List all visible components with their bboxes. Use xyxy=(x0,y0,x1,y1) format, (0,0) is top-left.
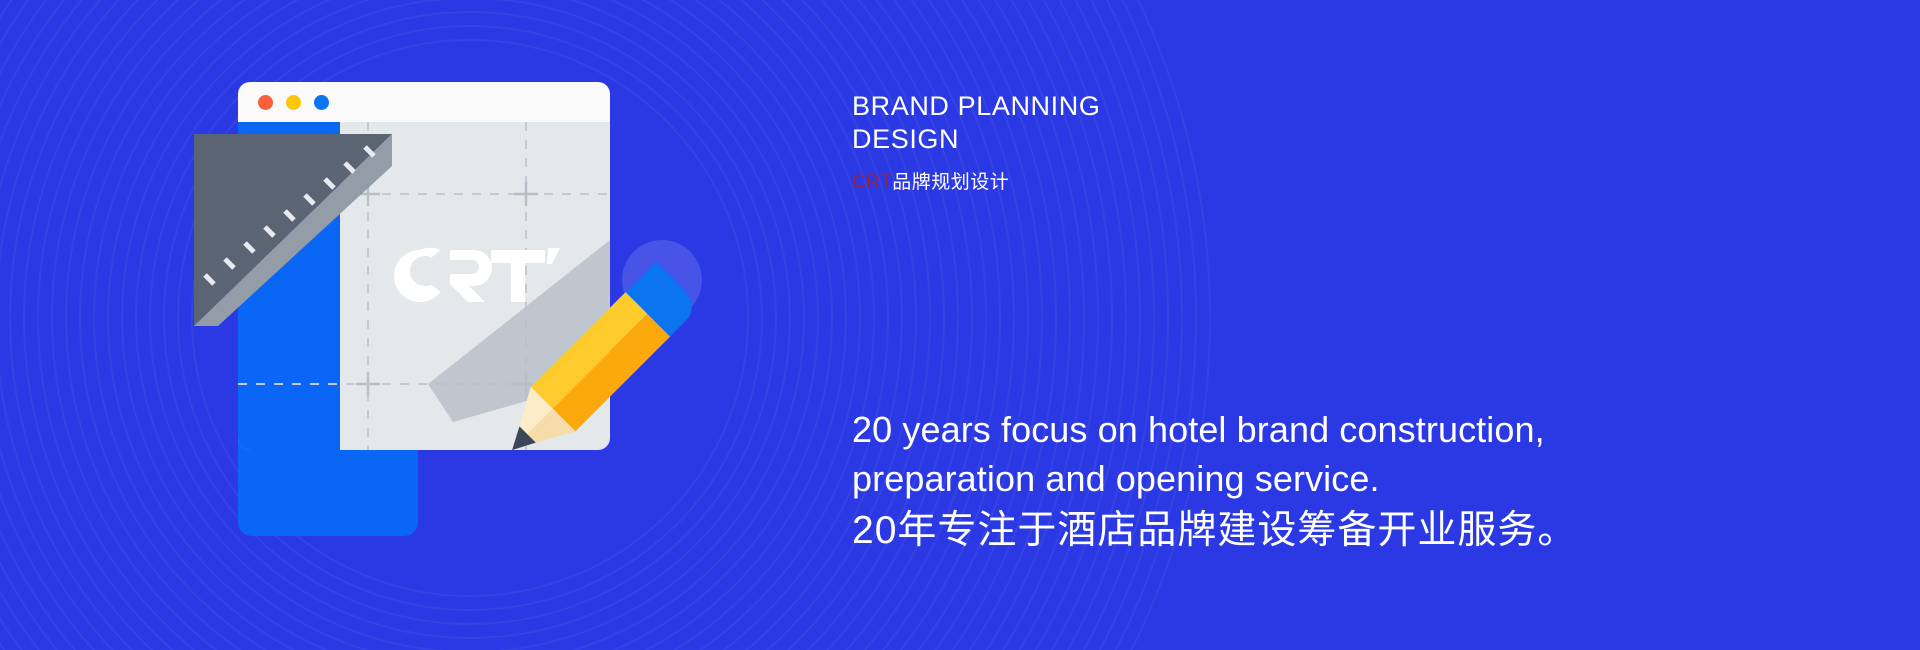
eyebrow-line-1: BRAND PLANNING xyxy=(852,91,1100,121)
window-titlebar xyxy=(238,82,610,122)
brand-design-illustration xyxy=(230,82,690,562)
headline-chinese: 20年专注于酒店品牌建设筹备开业服务。 xyxy=(852,505,1672,557)
minimize-dot xyxy=(286,95,301,110)
maximize-dot xyxy=(314,95,329,110)
eyebrow-heading: BRAND PLANNINGDESIGN xyxy=(852,90,1472,156)
brand-banner: BRAND PLANNINGDESIGN CRT品牌规划设计 20 years … xyxy=(0,0,1920,650)
close-dot xyxy=(258,95,273,110)
triangle-ruler xyxy=(188,130,398,330)
headline-en-line-1: 20 years focus on hotel brand constructi… xyxy=(852,409,1545,450)
eyebrow-subheading-cn: CRT品牌规划设计 xyxy=(852,171,1009,195)
copy-block: BRAND PLANNINGDESIGN CRT品牌规划设计 20 years … xyxy=(852,0,1872,650)
eyebrow-line-2: DESIGN xyxy=(852,124,959,154)
headline-english: 20 years focus on hotel brand constructi… xyxy=(852,405,1672,503)
eyebrow-brand-crt: CRT xyxy=(852,172,892,193)
headline-en-line-2: preparation and opening service. xyxy=(852,458,1380,499)
pencil xyxy=(456,230,706,480)
eyebrow-cn-text: 品牌规划设计 xyxy=(892,172,1009,193)
